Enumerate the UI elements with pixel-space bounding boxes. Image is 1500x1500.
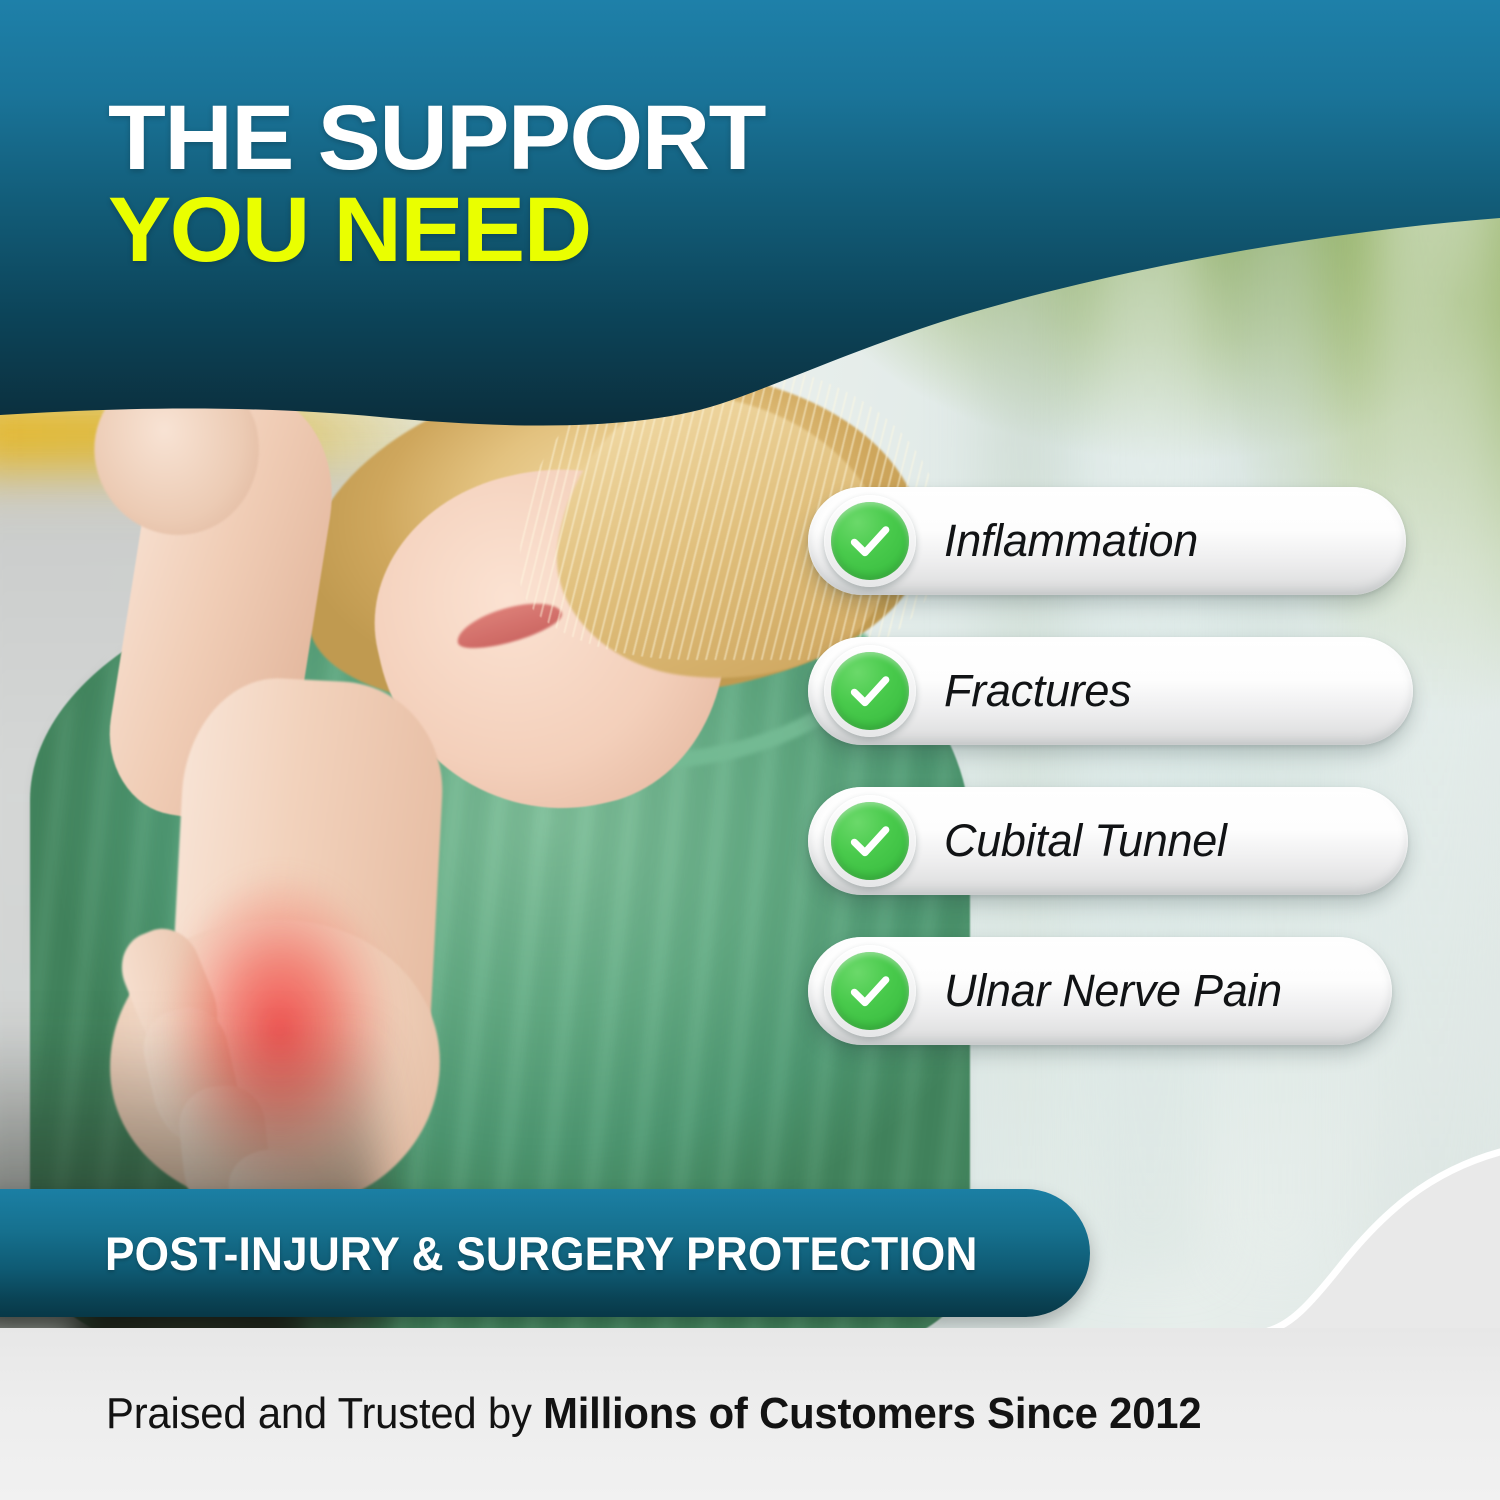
benefit-item-ulnar-nerve-pain[interactable]: Ulnar Nerve Pain — [808, 937, 1392, 1045]
trust-statement-regular: Praised and Trusted by — [106, 1389, 543, 1438]
check-glyph — [845, 666, 895, 716]
check-icon — [831, 802, 909, 880]
header-band: THE SUPPORT YOU NEED — [0, 0, 1500, 430]
promo-poster: THE SUPPORT YOU NEED Inflammation — [0, 0, 1500, 1500]
benefit-label: Ulnar Nerve Pain — [944, 965, 1282, 1017]
benefit-label: Cubital Tunnel — [944, 815, 1227, 867]
benefit-label: Inflammation — [944, 515, 1198, 567]
check-icon — [831, 502, 909, 580]
check-glyph — [845, 816, 895, 866]
benefit-item-fractures[interactable]: Fractures — [808, 637, 1413, 745]
trust-statement: Praised and Trusted by Millions of Custo… — [106, 1389, 1201, 1439]
check-badge — [824, 495, 916, 587]
check-glyph — [845, 966, 895, 1016]
check-badge — [824, 945, 916, 1037]
check-badge — [824, 795, 916, 887]
footer-bar: Praised and Trusted by Millions of Custo… — [0, 1328, 1500, 1500]
check-glyph — [845, 516, 895, 566]
benefit-list: Inflammation Fractures Cubital T — [808, 487, 1420, 1045]
benefit-label: Fractures — [944, 665, 1131, 717]
check-icon — [831, 652, 909, 730]
page-title: THE SUPPORT YOU NEED — [108, 96, 746, 273]
check-icon — [831, 952, 909, 1030]
banner-text: POST-INJURY & SURGERY PROTECTION — [105, 1226, 978, 1281]
title-line-2: YOU NEED — [108, 188, 765, 274]
title-line-1: THE SUPPORT — [108, 96, 765, 182]
trust-statement-bold: Millions of Customers Since 2012 — [543, 1389, 1201, 1438]
protection-banner: POST-INJURY & SURGERY PROTECTION — [0, 1189, 1090, 1317]
benefit-item-inflammation[interactable]: Inflammation — [808, 487, 1406, 595]
benefit-item-cubital-tunnel[interactable]: Cubital Tunnel — [808, 787, 1408, 895]
check-badge — [824, 645, 916, 737]
